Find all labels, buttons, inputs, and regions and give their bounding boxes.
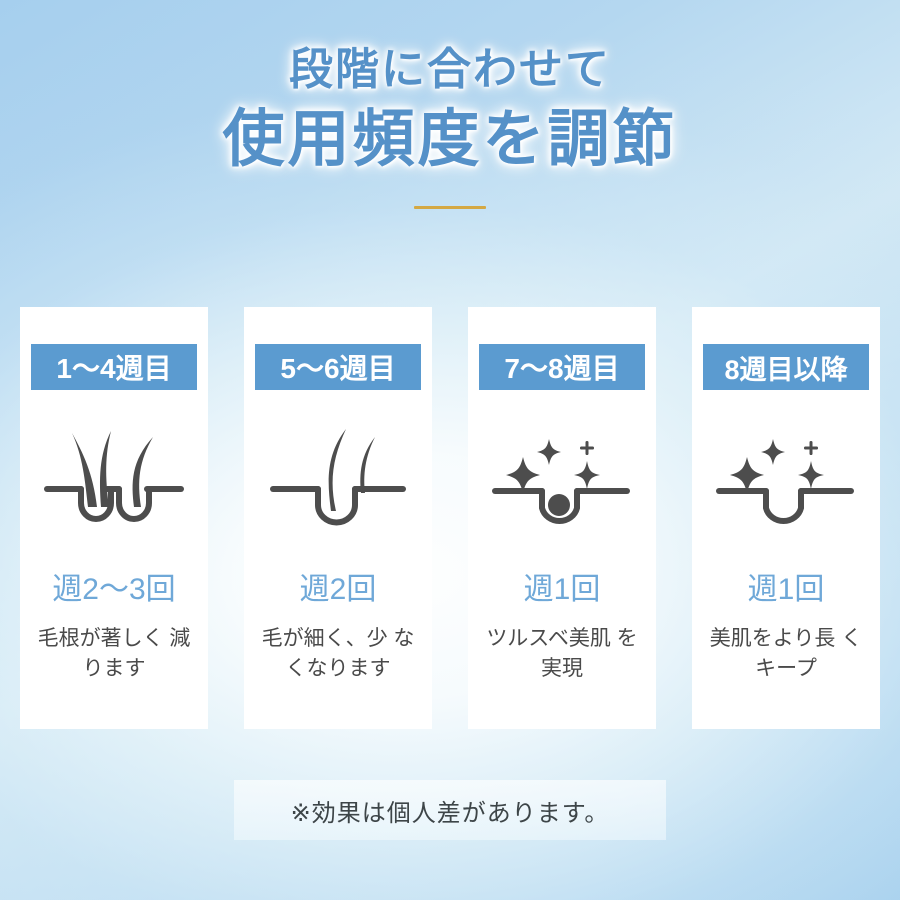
stage-card-list: 1〜4週目 週2〜3回 毛根が著しく 減ります xyxy=(20,307,880,729)
stage-description: 毛根が著しく 減ります xyxy=(34,624,194,684)
frequency-label: 週2回 xyxy=(300,564,377,608)
stage-badge: 8週目以降 xyxy=(703,344,869,390)
stage-badge: 5〜6週目 xyxy=(255,344,421,390)
stage-card: 5〜6週目 週2回 毛が細く、少 なくなります xyxy=(244,307,432,729)
frequency-label: 週1回 xyxy=(748,564,825,608)
sparkles xyxy=(506,439,600,493)
stage-badge: 7〜8週目 xyxy=(479,344,645,390)
heading-line-1: 段階に合わせて xyxy=(0,44,900,96)
stage-card: 1〜4週目 週2〜3回 毛根が著しく 減ります xyxy=(20,307,208,729)
stage-description: ツルスベ美肌 を実現 xyxy=(482,624,642,684)
infographic-root: 段階に合わせて 使用頻度を調節 1〜4週目 xyxy=(0,0,900,900)
heading-block: 段階に合わせて 使用頻度を調節 xyxy=(0,44,900,209)
stage-card: 8週目以降 週1回 xyxy=(692,307,880,729)
frequency-label: 週1回 xyxy=(524,564,601,608)
heading-line-2: 使用頻度を調節 xyxy=(0,102,900,178)
disclaimer-text: ※効果は個人差があります。 xyxy=(291,793,610,828)
empty-follicle-sparkle-icon xyxy=(477,404,647,554)
gold-divider xyxy=(414,206,486,209)
three-thick-hair-follicles-icon xyxy=(29,404,199,554)
sparkles xyxy=(730,439,824,493)
disclaimer-note: ※効果は個人差があります。 xyxy=(234,780,666,840)
stage-description: 毛が細く、少 なくなります xyxy=(258,624,418,684)
frequency-label: 週2〜3回 xyxy=(52,564,175,608)
stage-card: 7〜8週目 xyxy=(468,307,656,729)
stage-badge: 1〜4週目 xyxy=(31,344,197,390)
smooth-skin-sparkle-icon xyxy=(701,404,871,554)
thin-hair-follicle-icon xyxy=(253,404,423,554)
stage-description: 美肌をより長 くキープ xyxy=(706,624,866,684)
